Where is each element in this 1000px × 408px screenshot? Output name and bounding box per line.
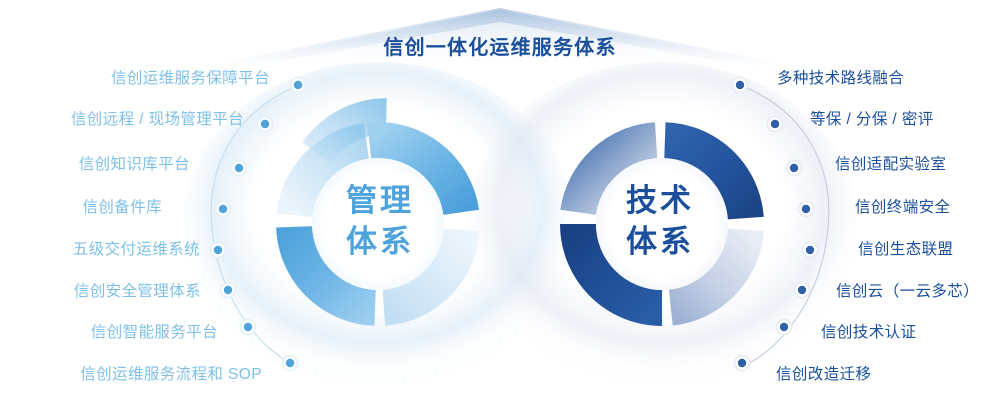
right-label-6[interactable]: 信创云（一云多芯） (836, 279, 1000, 301)
left-node-dot-7[interactable] (244, 323, 252, 331)
right-node-dot-3[interactable] (790, 164, 798, 172)
left-label-6[interactable]: 信创安全管理体系 (0, 279, 201, 301)
right-node-dot-6[interactable] (798, 286, 806, 294)
right-node-dot-8[interactable] (738, 359, 746, 367)
left-node-dot-1[interactable] (294, 81, 302, 89)
left-node-dot-8[interactable] (286, 359, 294, 367)
left-node-dot-5[interactable] (214, 246, 222, 254)
right-label-4[interactable]: 信创终端安全 (855, 195, 1000, 217)
left-node-dot-3[interactable] (235, 164, 243, 172)
left-label-3[interactable]: 信创知识库平台 (0, 152, 190, 174)
right-node-dot-1[interactable] (736, 81, 744, 89)
right-caption-line-2: 体系 (580, 222, 740, 263)
left-label-4[interactable]: 信创备件库 (0, 195, 162, 217)
right-node-dot-4[interactable] (802, 205, 810, 213)
left-label-5[interactable]: 五级交付运维系统 (0, 237, 200, 259)
right-node-dot-5[interactable] (806, 246, 814, 254)
left-label-7[interactable]: 信创智能服务平台 (0, 320, 218, 342)
infographic-canvas: 信创一体化运维服务体系 管理 体系 技术 体系 信创运维服务保障平台信创远程 /… (0, 0, 1000, 408)
left-node-dot-4[interactable] (219, 205, 227, 213)
right-label-5[interactable]: 信创生态联盟 (858, 237, 1000, 259)
right-caption-line-1: 技术 (580, 181, 740, 222)
right-label-8[interactable]: 信创改造迁移 (776, 362, 1000, 384)
left-label-2[interactable]: 信创远程 / 现场管理平台 (0, 107, 244, 129)
left-node-dot-2[interactable] (261, 120, 269, 128)
right-label-3[interactable]: 信创适配实验室 (835, 152, 1000, 174)
right-node-dot-7[interactable] (780, 323, 788, 331)
left-ring-caption: 管理 体系 (300, 181, 460, 263)
right-label-1[interactable]: 多种技术路线融合 (777, 66, 1000, 88)
left-label-1[interactable]: 信创运维服务保障平台 (0, 66, 270, 88)
left-node-dot-6[interactable] (224, 286, 232, 294)
page-title: 信创一体化运维服务体系 (0, 31, 1000, 60)
right-label-7[interactable]: 信创技术认证 (821, 320, 1000, 342)
left-caption-line-2: 体系 (300, 222, 460, 263)
right-label-2[interactable]: 等保 / 分保 / 密评 (810, 107, 1000, 129)
right-node-dot-2[interactable] (771, 120, 779, 128)
right-ring-caption: 技术 体系 (580, 181, 740, 263)
left-caption-line-1: 管理 (300, 181, 460, 222)
left-label-8[interactable]: 信创运维服务流程和 SOP (0, 362, 262, 384)
